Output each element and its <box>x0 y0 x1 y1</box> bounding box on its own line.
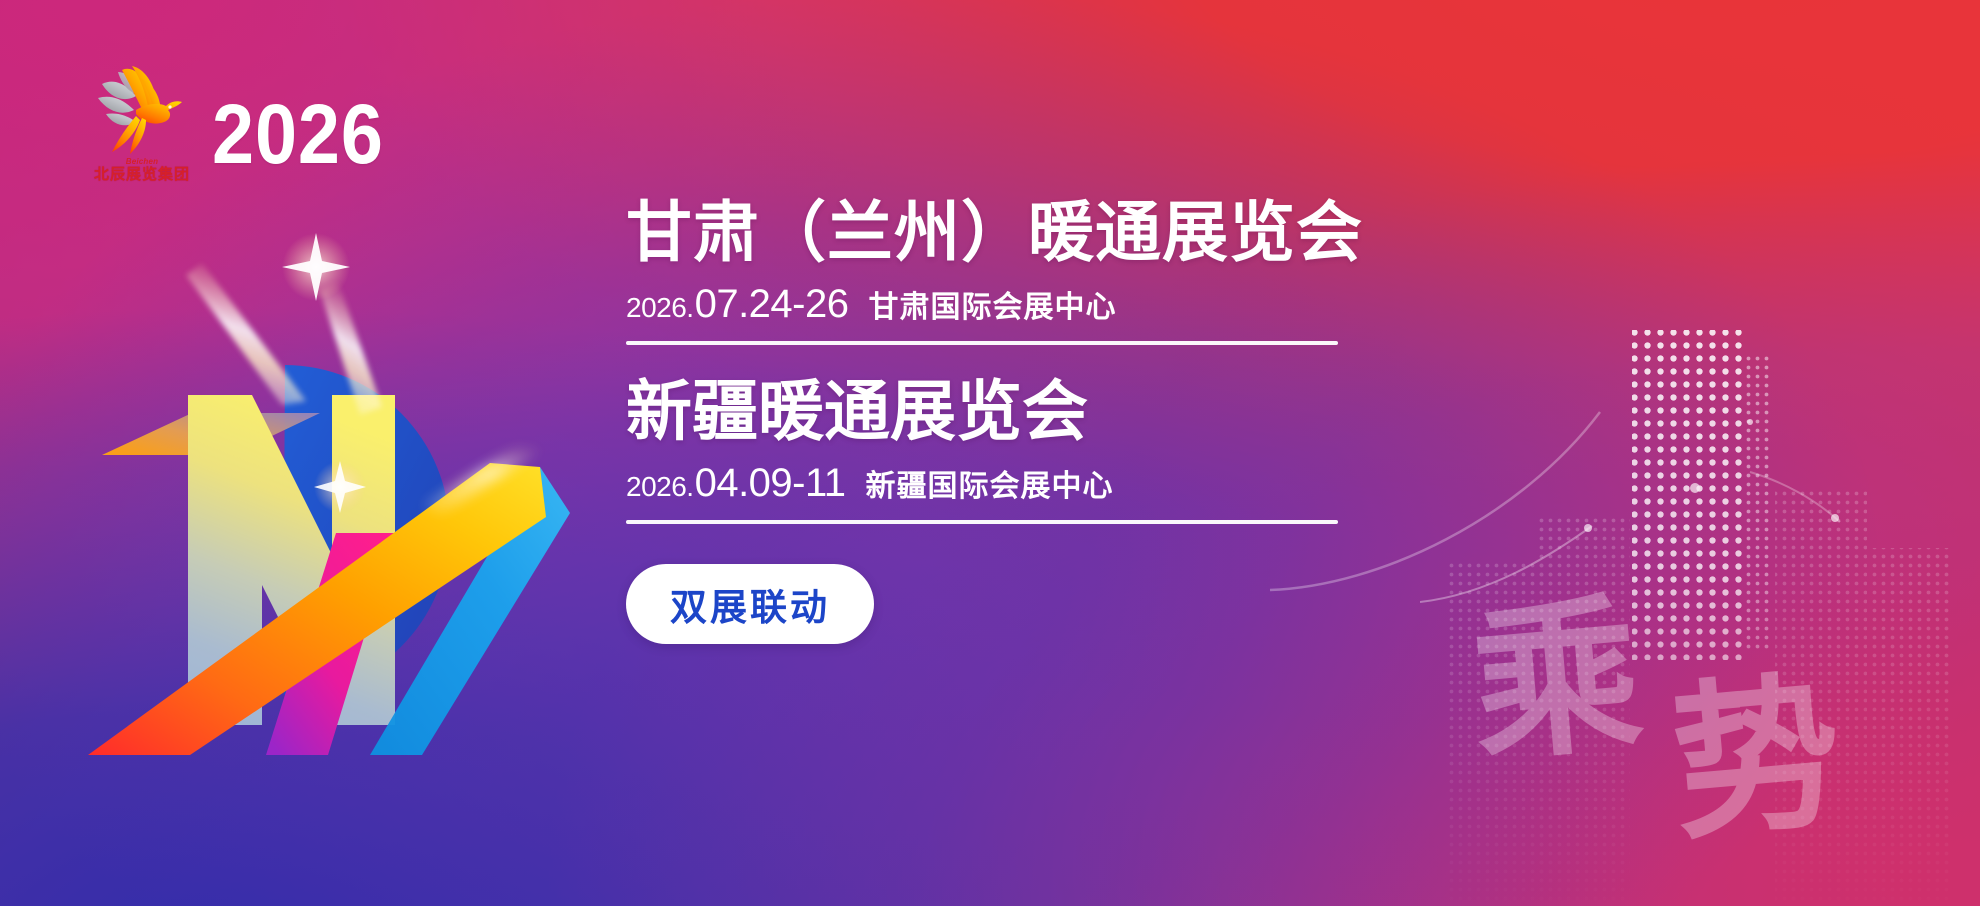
exhibition-title: 新疆暖通展览会 <box>626 375 1366 449</box>
exhibition-dates: 04.09-11 <box>695 461 846 506</box>
exhibition-venue: 新疆国际会展中心 <box>866 461 1114 505</box>
exhibition-info-block: 甘肃（兰州）暖通展览会 2026. 07.24-26 甘肃国际会展中心 新疆暖通… <box>626 196 1366 644</box>
exhibition-entry-xinjiang: 新疆暖通展览会 2026. 04.09-11 新疆国际会展中心 <box>626 375 1366 524</box>
section-divider <box>626 341 1338 345</box>
year-heading: 2026 <box>212 92 384 176</box>
exhibition-title: 甘肃（兰州）暖通展览会 <box>626 196 1366 270</box>
dual-exhibition-badge[interactable]: 双展联动 <box>626 564 874 644</box>
exhibition-entry-gansu: 甘肃（兰州）暖通展览会 2026. 07.24-26 甘肃国际会展中心 <box>626 196 1366 345</box>
exhibition-year: 2026. <box>626 292 694 324</box>
exhibition-dates: 07.24-26 <box>695 282 849 327</box>
sparkle-icon <box>282 233 350 301</box>
exhibition-meta: 2026. 04.09-11 新疆国际会展中心 <box>626 461 1366 506</box>
phoenix-bird-logo-icon <box>92 62 192 157</box>
exhibition-year: 2026. <box>626 471 694 503</box>
exhibition-venue: 甘肃国际会展中心 <box>869 282 1117 326</box>
sparkle-icon <box>314 461 366 513</box>
promotional-banner: 乘 势 <box>0 0 1980 906</box>
section-divider <box>626 520 1338 524</box>
logo-company-cn: 北辰展览集团 <box>82 167 202 183</box>
exhibition-meta: 2026. 07.24-26 甘肃国际会展中心 <box>626 282 1366 327</box>
abstract-n-arrow-graphic <box>70 255 590 755</box>
company-logo[interactable]: Beichen 北辰展览集团 <box>82 62 202 187</box>
